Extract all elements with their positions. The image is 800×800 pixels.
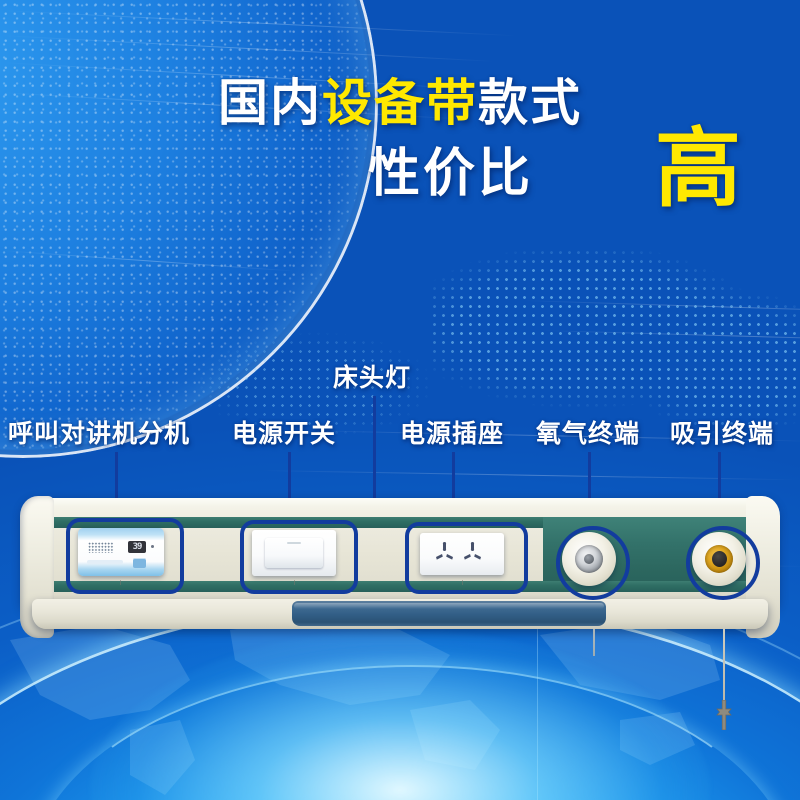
headline-accent-char: 高	[655, 126, 741, 212]
highlight-box-power-socket	[405, 522, 528, 594]
callout-label-power-switch: 电源开关	[232, 414, 336, 450]
highlight-box-intercom	[66, 518, 184, 594]
callout-label-power-socket: 电源插座	[400, 414, 504, 450]
callout-label-bed-lamp: 床头灯	[333, 358, 411, 394]
callout-label-oxygen: 氧气终端	[536, 414, 640, 450]
suction-hose-cord	[723, 626, 725, 708]
headline-line-2: 性价比 高	[0, 146, 800, 224]
headline-part-1: 国内	[218, 78, 322, 128]
highlight-box-oxygen	[556, 526, 630, 600]
highlight-box-power-switch	[240, 520, 358, 594]
oxygen-cord	[593, 626, 595, 656]
poster-canvas: 国内设备带款式 性价比 高 呼叫对讲机分机 电源开关 床头灯 电源插座 氧气终端…	[0, 0, 800, 800]
headline-value-text: 性价比	[368, 148, 533, 200]
highlight-box-suction	[686, 526, 760, 600]
headline-block: 国内设备带款式 性价比 高	[0, 78, 800, 224]
cord-cross-handle-icon	[714, 700, 734, 734]
headline-part-3: 款式	[478, 78, 582, 128]
callout-label-suction: 吸引终端	[670, 414, 774, 450]
headline-part-2: 设备带	[322, 78, 478, 128]
panel-blue-rail-segment	[292, 601, 606, 626]
callout-label-intercom: 呼叫对讲机分机	[8, 414, 190, 450]
